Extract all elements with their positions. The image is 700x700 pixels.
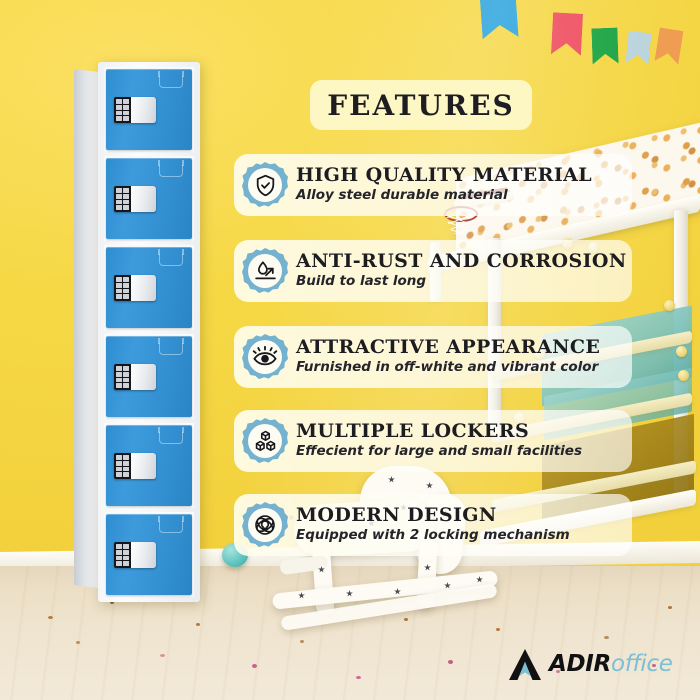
keypad-buttons (114, 542, 131, 568)
eye-icon (242, 334, 288, 380)
coat-hook-emboss (159, 343, 183, 355)
keypad-buttons (114, 186, 131, 212)
adir-triangle-mark-icon (508, 648, 542, 681)
brand-logo: ADIRoffice (508, 648, 673, 681)
door-handle (131, 453, 156, 479)
feature-subtitle: Effecient for large and small facilities (296, 443, 582, 460)
logo-text-office: office (611, 653, 673, 676)
coat-hook-emboss (159, 521, 183, 533)
locker-front-face (98, 62, 200, 602)
feature-title: MULTIPLE LOCKERS (296, 422, 582, 442)
keypad-buttons (114, 364, 131, 390)
feature-subtitle: Furnished in off-white and vibrant color (296, 359, 600, 376)
feature-subtitle: Equipped with 2 locking mechanism (296, 527, 570, 544)
coat-hook-emboss (159, 432, 183, 444)
features-title-pill: FEATURES (310, 80, 532, 130)
coat-hook-emboss (159, 165, 183, 177)
locker-door (106, 425, 192, 506)
keypad-lock (114, 275, 156, 301)
door-handle (131, 186, 156, 212)
keypad-buttons (114, 97, 131, 123)
door-handle (131, 542, 156, 568)
logo-text-adir: ADIR (549, 653, 611, 676)
keypad-lock (114, 364, 156, 390)
keypad-lock (114, 97, 156, 123)
feature-row-anti-rust-and-corrosion: ANTI-RUST AND CORROSION Build to last lo… (234, 240, 632, 302)
feature-subtitle: Build to last long (296, 273, 627, 290)
locker-compartment (104, 245, 194, 330)
feature-row-modern-design: MODERN DESIGN Equipped with 2 locking me… (234, 494, 632, 556)
keypad-lock (114, 186, 156, 212)
feature-title: MODERN DESIGN (296, 506, 570, 526)
feature-title: ANTI-RUST AND CORROSION (296, 252, 627, 272)
locker-door (106, 158, 192, 239)
locker-door (106, 336, 192, 417)
coat-hook-emboss (159, 254, 183, 266)
locker-door (106, 514, 192, 595)
feature-row-high-quality-material: HIGH QUALITY MATERIAL Alloy steel durabl… (234, 154, 632, 216)
page-title: FEATURES (327, 89, 515, 122)
door-handle (131, 97, 156, 123)
water-repellent-droplet-icon (242, 248, 288, 294)
coat-hook-emboss (159, 76, 183, 88)
locker-compartment (104, 512, 194, 597)
steel-locker-product (74, 62, 200, 602)
keypad-buttons (114, 453, 131, 479)
lightbulb-atom-icon (242, 502, 288, 548)
feature-title: ATTRACTIVE APPEARANCE (296, 338, 600, 358)
feature-subtitle: Alloy steel durable material (296, 187, 592, 204)
locker-door (106, 69, 192, 150)
locker-compartment (104, 156, 194, 241)
keypad-buttons (114, 275, 131, 301)
locker-compartment (104, 334, 194, 419)
feature-title: HIGH QUALITY MATERIAL (296, 166, 592, 186)
shield-check-icon (242, 162, 288, 208)
door-handle (131, 275, 156, 301)
locker-side-panel (74, 69, 100, 588)
locker-compartment (104, 67, 194, 152)
locker-door (106, 247, 192, 328)
feature-row-multiple-lockers: MULTIPLE LOCKERS Effecient for large and… (234, 410, 632, 472)
product-feature-infographic: FEATURES HIGH QUALITY MATERIAL Alloy ste… (0, 0, 700, 700)
keypad-lock (114, 453, 156, 479)
feature-row-attractive-appearance: ATTRACTIVE APPEARANCE Furnished in off-w… (234, 326, 632, 388)
door-handle (131, 364, 156, 390)
locker-compartment (104, 423, 194, 508)
keypad-lock (114, 542, 156, 568)
stacked-cubes-icon (242, 418, 288, 464)
